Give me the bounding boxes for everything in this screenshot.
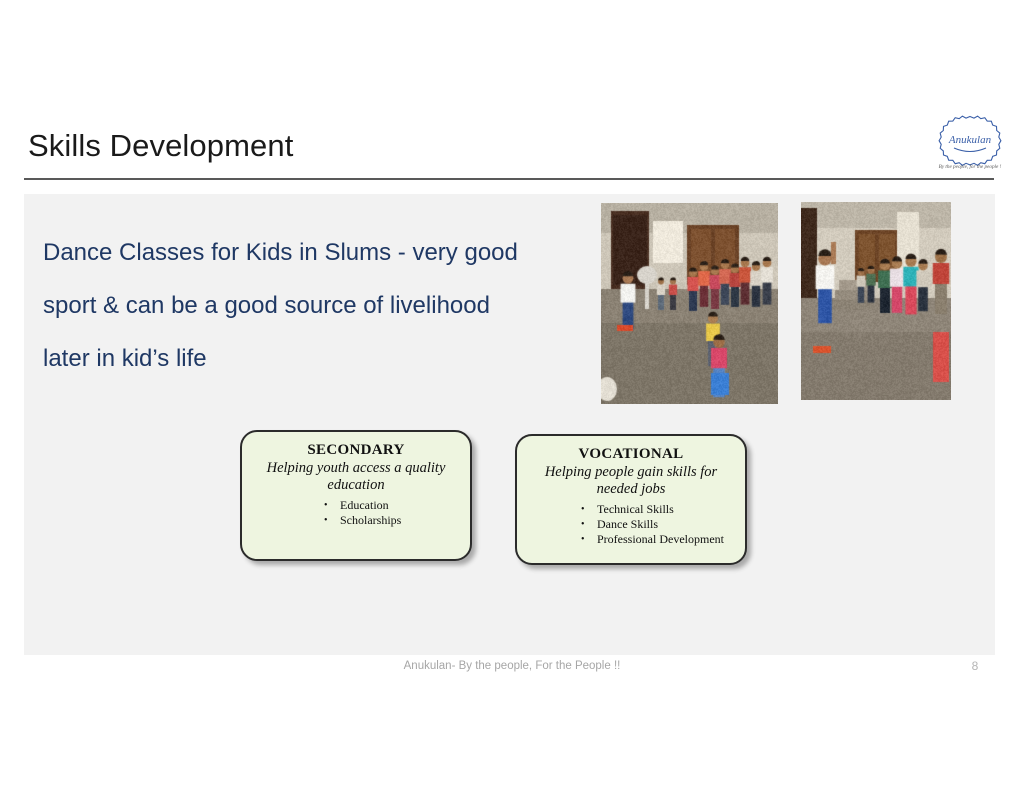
callout-vocational: VOCATIONAL Helping people gain skills fo…	[515, 434, 747, 565]
logo-tagline: By the people, for the people !	[939, 163, 1002, 170]
list-item: Professional Development	[589, 532, 745, 547]
photo-dance-class-line	[801, 202, 951, 400]
callout-secondary-subtitle: Helping youth access a quality education	[250, 460, 462, 494]
title-divider	[24, 178, 994, 180]
callout-vocational-title: VOCATIONAL	[517, 446, 745, 463]
photo-dance-class-group	[601, 203, 778, 404]
slide-footer: Anukulan- By the people, For the People …	[0, 660, 1024, 672]
callout-secondary-title: SECONDARY	[242, 442, 470, 459]
logo-icon: Anukulan By the people, for the people !	[935, 111, 1005, 177]
logo-wordmark: Anukulan	[948, 134, 992, 146]
presentation-slide: Skills Development Anukulan By the peopl…	[0, 0, 1024, 791]
list-item: Dance Skills	[589, 517, 745, 532]
list-item: Technical Skills	[589, 502, 745, 517]
page-title: Skills Development	[28, 128, 293, 164]
callout-secondary: SECONDARY Helping youth access a quality…	[240, 430, 472, 561]
anukulan-logo: Anukulan By the people, for the people !	[935, 111, 1005, 177]
page-number: 8	[955, 659, 995, 673]
photo-canvas-right	[801, 202, 951, 400]
photo-canvas-left	[601, 203, 778, 404]
callout-secondary-list: Education Scholarships	[332, 498, 470, 528]
callout-vocational-subtitle: Helping people gain skills for needed jo…	[525, 464, 737, 498]
list-item: Scholarships	[332, 513, 470, 528]
headline-text: Dance Classes for Kids in Slums - very g…	[43, 226, 543, 385]
callout-vocational-list: Technical Skills Dance Skills Profession…	[589, 502, 745, 547]
list-item: Education	[332, 498, 470, 513]
